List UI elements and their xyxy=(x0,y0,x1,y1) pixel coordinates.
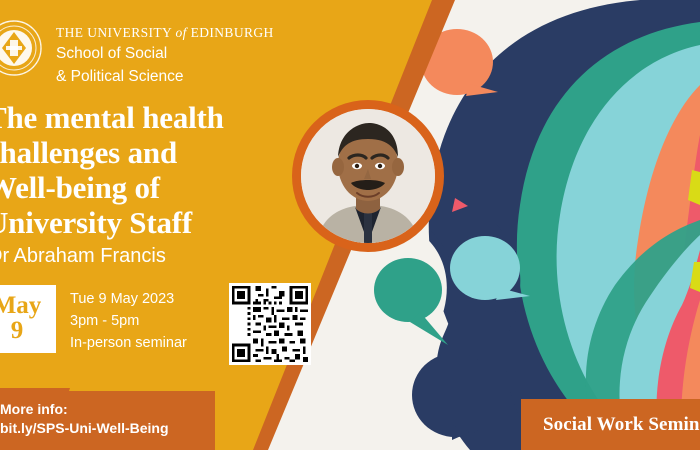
qr-code-icon[interactable] xyxy=(229,283,311,365)
school-name-line-1: School of Social xyxy=(56,45,274,63)
more-info-label: More info: xyxy=(0,400,215,419)
title-line-1: The mental health xyxy=(0,100,316,135)
seminar-series-banner: Social Work Seminar xyxy=(521,399,700,450)
title-line-3: Well-being of xyxy=(0,170,316,205)
event-time: 3pm - 5pm xyxy=(70,310,187,332)
event-details: Tue 9 May 2023 3pm - 5pm In-person semin… xyxy=(70,288,187,354)
event-date: Tue 9 May 2023 xyxy=(70,288,187,310)
more-info-url[interactable]: bit.ly/SPS-Uni-Well-Being xyxy=(0,419,215,438)
seminar-series-title: Social Work Seminar xyxy=(543,414,700,436)
university-name: THE UNIVERSITY of EDINBURGH xyxy=(56,26,274,40)
date-badge: May 9 xyxy=(0,285,56,353)
university-crest-icon xyxy=(0,20,42,76)
university-branding: THE UNIVERSITY of EDINBURGH School of So… xyxy=(0,18,274,86)
speaker-name: Dr Abraham Francis xyxy=(0,245,166,268)
speech-bubble-navy xyxy=(412,353,498,437)
event-format: In-person seminar xyxy=(70,332,187,354)
title-line-4: University Staff xyxy=(0,205,316,240)
title-line-2: challenges and xyxy=(0,135,316,170)
school-name-line-2: & Political Science xyxy=(56,68,274,86)
date-badge-day: 9 xyxy=(11,318,24,344)
page-title: The mental health challenges and Well-be… xyxy=(0,100,316,240)
speaker-photo xyxy=(301,109,435,243)
event-poster: THE UNIVERSITY of EDINBURGH School of So… xyxy=(0,0,700,450)
more-info-box[interactable]: More info: bit.ly/SPS-Uni-Well-Being xyxy=(0,391,215,450)
date-badge-month: May xyxy=(0,294,41,318)
